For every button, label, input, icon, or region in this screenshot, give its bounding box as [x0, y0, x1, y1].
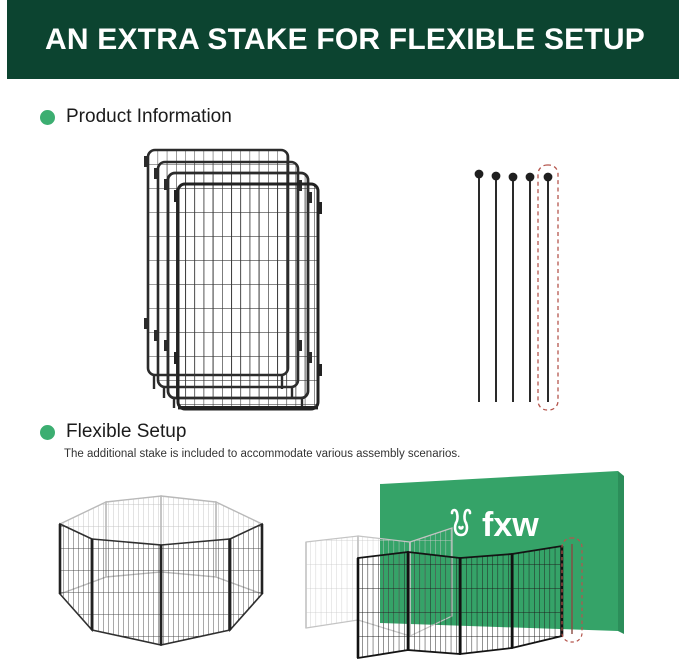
stakes-illustration [462, 152, 572, 417]
front-fence-panels [358, 546, 562, 658]
wall-setup-illustration: fxw [300, 468, 668, 660]
bullet-dot-icon [40, 425, 55, 440]
section-description: The additional stake is included to acco… [64, 448, 460, 460]
stacked-panels-illustration [130, 140, 355, 415]
fxw-wordmark: fxw [482, 506, 539, 544]
stake-3 [509, 173, 518, 402]
playpen-svg [18, 482, 303, 657]
bullet-dot-icon [40, 110, 55, 125]
section-heading-flexible-setup: Flexible Setup [40, 421, 186, 443]
octagonal-playpen-illustration [18, 482, 303, 657]
section-heading-product-information: Product Information [40, 106, 232, 128]
green-wall-edge [618, 471, 624, 634]
mesh-panel-front [174, 184, 322, 409]
stake-4 [526, 173, 535, 402]
section-title: Flexible Setup [66, 421, 186, 443]
header-banner: AN EXTRA STAKE FOR FLEXIBLE SETUP [7, 0, 679, 79]
stake-5-highlighted [538, 165, 558, 410]
page-root: AN EXTRA STAKE FOR FLEXIBLE SETUP Produc… [0, 0, 679, 662]
stake-2 [492, 172, 501, 402]
stacked-panels-svg [130, 140, 355, 415]
stakes-svg [462, 152, 572, 417]
stake-1 [475, 170, 484, 402]
wall-setup-svg: fxw [300, 468, 668, 660]
section-title: Product Information [66, 106, 232, 128]
page-title: AN EXTRA STAKE FOR FLEXIBLE SETUP [45, 23, 645, 57]
